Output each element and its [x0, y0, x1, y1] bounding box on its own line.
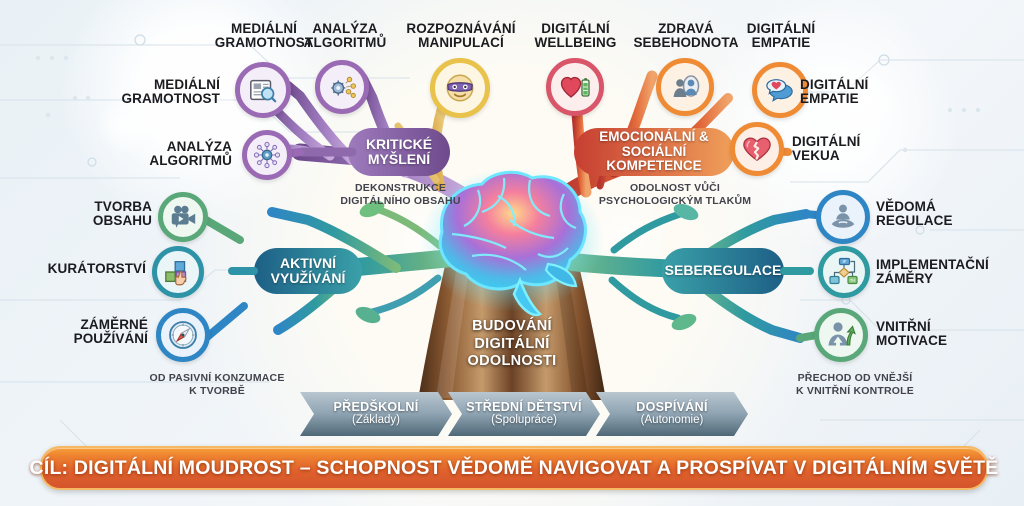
branch-label-text: EMOCIONÁLNÍ & SOCIÁLNÍ KOMPETENCE [574, 130, 734, 174]
node-label-rozpoznavani-manipulaci: ROZPOZNÁVÁNÍ MANIPULACÍ [395, 22, 527, 51]
trunk-label: BUDOVÁNÍ DIGITÁLNÍ ODOLNOSTI [432, 318, 592, 371]
stage-stredni-detstvi[interactable]: STŘEDNÍ DĚTSTVÍ (Spolupráce) [448, 392, 600, 436]
node-label-digitalni-wellbeing: DIGITÁLNÍ WELLBEING [518, 22, 633, 51]
video-camera-icon [168, 202, 198, 232]
meditation-icon [828, 202, 858, 232]
node-kuratorstvi[interactable] [152, 246, 204, 298]
node-label-vedoma-regulace: VĚDOMÁ REGULACE [876, 200, 1016, 229]
stage-predskolni[interactable]: PŘEDŠKOLNÍ (Základy) [300, 392, 452, 436]
branch-subtitle-emocionalni-socialni-kompetence: ODOLNOST VŮČI PSYCHOLOGICKÝM TLAKŮM [580, 182, 770, 207]
node-analyza-algoritmu-left[interactable] [242, 130, 292, 180]
speech-heart-icon [765, 75, 795, 105]
stage-title: PŘEDŠKOLNÍ [334, 401, 419, 414]
branch-subtitle-aktivni-vyuzivani: OD PASIVNÍ KONZUMACE K TVORBĚ [122, 372, 312, 397]
node-label-digitalni-empatie-right: DIGITÁLNÍ EMPATIE [800, 78, 950, 107]
node-digitalni-wellbeing[interactable] [546, 58, 604, 116]
gear-network-icon [253, 141, 281, 169]
goal-banner-text: CÍL: DIGITÁLNÍ MOUDROST – SCHOPNOST VĚDO… [30, 457, 999, 480]
masked-face-icon [443, 71, 477, 105]
stage-note: (Autonomie) [641, 414, 704, 427]
stage-title: STŘEDNÍ DĚTSTVÍ [466, 401, 582, 414]
node-vnitrni-motivace[interactable] [814, 308, 868, 362]
svg-text:TH: TH [850, 277, 855, 282]
branch-label-text: KRITICKÉ MYŠLENÍ [366, 137, 432, 167]
goal-banner: CÍL: DIGITÁLNÍ MOUDROST – SCHOPNOST VĚDO… [40, 446, 988, 490]
node-zdrava-sebehodnota[interactable] [656, 58, 714, 116]
stage-dospivani[interactable]: DOSPÍVÁNÍ (Autonomie) [596, 392, 748, 436]
node-label-analyza-algoritmu-left: ANALÝZA ALGORITMŮ [120, 140, 232, 169]
broken-heart-icon [742, 134, 772, 164]
compass-icon [167, 319, 199, 351]
node-label-digitalni-vekua: DIGITÁLNÍ VEKUA [792, 135, 942, 164]
infographic-canvas: KRITICKÉ MYŠLENÍ DEKONSTRUKCE DIGITÁLNÍH… [0, 0, 1024, 506]
branch-label-emocionalni-socialni-kompetence[interactable]: EMOCIONÁLNÍ & SOCIÁLNÍ KOMPETENCE [574, 128, 734, 176]
node-label-digitalni-empatie-top: DIGITÁLNÍ EMPATIE [722, 22, 840, 51]
stage-title: DOSPÍVÁNÍ [636, 401, 707, 414]
node-implementacni-zamery[interactable]: IF TH [818, 246, 870, 298]
branch-label-text: SEBEREGULACE [665, 263, 782, 278]
gear-network-icon [327, 72, 357, 102]
person-mirror-icon [669, 71, 701, 103]
node-rozpoznavani-manipulaci[interactable] [430, 58, 490, 118]
node-digitalni-vekua[interactable] [730, 122, 784, 176]
stage-note: (Základy) [352, 414, 400, 427]
branch-label-aktivni-vyuzivani[interactable]: AKTIVNÍ VYUŽÍVÁNÍ [254, 248, 362, 294]
branch-subtitle-kriticke-mysleni: DEKONSTRUKCE DIGITÁLNÍHO OBSAHU [318, 182, 483, 207]
branch-label-seberegulace[interactable]: SEBEREGULACE [662, 248, 784, 294]
node-zamerne-pouzivani[interactable] [156, 308, 210, 362]
node-label-kuratorstvi: KURÁTORSTVÍ [36, 262, 146, 276]
node-tvorba-obsahu[interactable] [158, 192, 208, 242]
branch-label-kriticke-mysleni[interactable]: KRITICKÉ MYŠLENÍ [348, 128, 450, 176]
drag-squares-icon [163, 257, 193, 287]
node-vedoma-regulace[interactable] [816, 190, 870, 244]
flowchart-icon: IF TH [828, 256, 860, 288]
branch-subtitle-seberegulace: PŘECHOD OD VNĚJŠÍ K VNITŘNÍ KONTROLE [760, 372, 950, 397]
node-label-vnitrni-motivace: VNITŘNÍ MOTIVACE [876, 320, 1016, 349]
stage-note: (Spolupráce) [491, 414, 557, 427]
branch-label-text: AKTIVNÍ VYUŽÍVÁNÍ [271, 256, 346, 286]
node-label-medialni-gramotnost-left: MEDIÁLNÍ GRAMOTNOST [110, 78, 220, 107]
heart-battery-icon [559, 71, 591, 103]
node-label-zamerne-pouzivani: ZÁMĚRNÉ POUŽÍVÁNÍ [50, 318, 148, 347]
stage-timeline: PŘEDŠKOLNÍ (Základy) STŘEDNÍ DĚTSTVÍ (Sp… [300, 392, 748, 436]
node-analyza-algoritmu-top[interactable] [315, 60, 369, 114]
node-label-analyza-algoritmu-top: ANALÝZA ALGORITMŮ [290, 22, 400, 51]
node-label-tvorba-obsahu: TVORBA OBSAHU [60, 200, 152, 229]
person-arrow-up-icon [825, 319, 857, 351]
node-label-implementacni-zamery: IMPLEMENTAČNÍ ZÁMĚRY [876, 258, 1024, 287]
svg-text:IF: IF [843, 259, 847, 264]
